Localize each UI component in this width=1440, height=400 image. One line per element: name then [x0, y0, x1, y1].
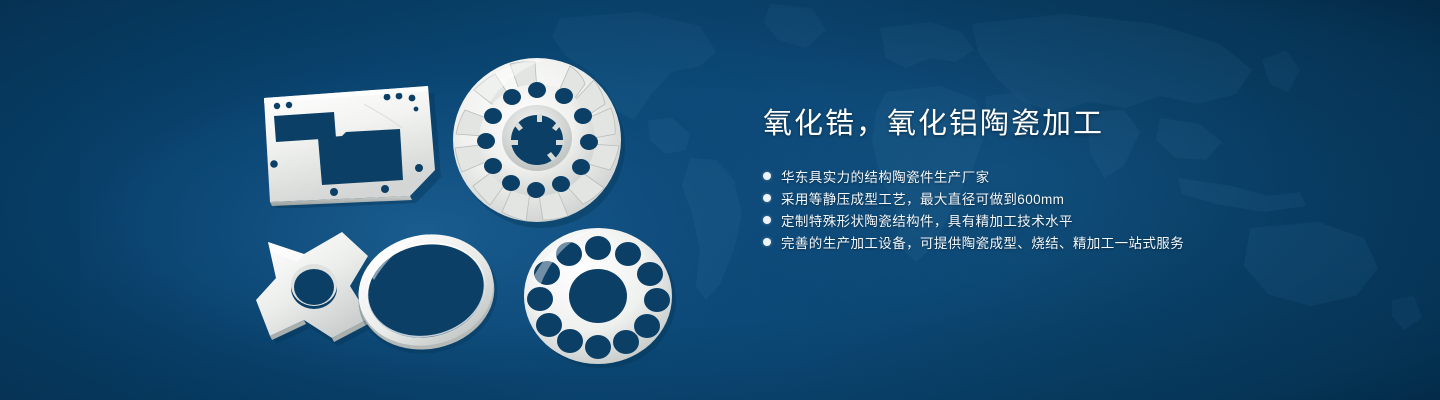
- bullet-dot-icon: [763, 238, 771, 246]
- ceramic-perforated-disc: [516, 222, 684, 370]
- list-item: 采用等静压成型工艺，最大直径可做到600mm: [763, 187, 1323, 209]
- marketing-copy: 氧化锆，氧化铝陶瓷加工 华东具实力的结构陶瓷件生产厂家 采用等静压成型工艺，最大…: [763, 106, 1323, 253]
- list-item-label: 华东具实力的结构陶瓷件生产厂家: [781, 166, 990, 186]
- list-item-label: 采用等静压成型工艺，最大直径可做到600mm: [781, 188, 1064, 208]
- bullet-dot-icon: [763, 172, 771, 180]
- list-item: 华东具实力的结构陶瓷件生产厂家: [763, 165, 1323, 187]
- feature-list: 华东具实力的结构陶瓷件生产厂家 采用等静压成型工艺，最大直径可做到600mm 定…: [763, 165, 1323, 253]
- ceramic-vaned-impeller: [444, 50, 634, 230]
- ceramic-machined-plate: [252, 76, 452, 208]
- hero-banner: 氧化锆，氧化铝陶瓷加工 华东具实力的结构陶瓷件生产厂家 采用等静压成型工艺，最大…: [0, 0, 1440, 400]
- product-photo-group: [0, 0, 760, 400]
- list-item-label: 完善的生产加工设备，可提供陶瓷成型、烧结、精加工一站式服务: [781, 232, 1184, 252]
- ceramic-thin-ring: [344, 222, 514, 357]
- list-item: 定制特殊形状陶瓷结构件，具有精加工技术水平: [763, 209, 1323, 231]
- bullet-dot-icon: [763, 194, 771, 202]
- list-item-label: 定制特殊形状陶瓷结构件，具有精加工技术水平: [781, 210, 1073, 230]
- list-item: 完善的生产加工设备，可提供陶瓷成型、烧结、精加工一站式服务: [763, 231, 1323, 253]
- page-title: 氧化锆，氧化铝陶瓷加工: [763, 106, 1323, 143]
- bullet-dot-icon: [763, 216, 771, 224]
